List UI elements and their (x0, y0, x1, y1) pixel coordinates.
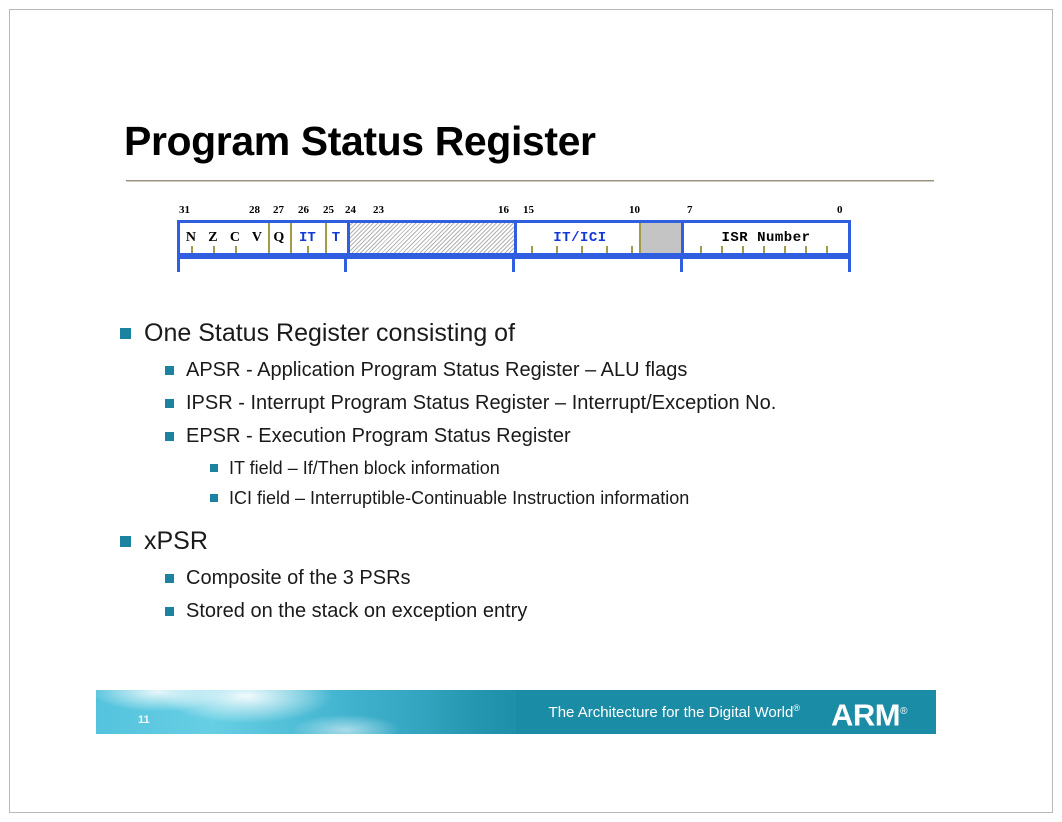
bit-label-v: V (252, 230, 262, 246)
bullet-level2: APSR - Application Program Status Regist… (165, 356, 950, 384)
bit-label-c: C (230, 230, 240, 246)
bit-tick (556, 246, 558, 253)
bit-cell-q: Q (268, 223, 290, 253)
bit-tick (631, 246, 633, 253)
bit-label-it: IT (299, 230, 316, 246)
register-section-isr-number: ISR Number (681, 223, 848, 253)
bit-tick (581, 246, 583, 253)
bullet-text: APSR - Application Program Status Regist… (186, 356, 687, 384)
bit-label-27: 27 (273, 204, 284, 216)
bullet-marker-icon (165, 432, 174, 441)
bracket-drop-23 (344, 256, 347, 272)
bullet-level2: Stored on the stack on exception entry (165, 597, 950, 625)
register-bracket (177, 256, 851, 272)
bullet-marker-icon (165, 366, 174, 375)
register-section-it-ici: IT/ICI (514, 223, 681, 253)
slide-body-content: One Status Register consisting of APSR -… (120, 316, 950, 630)
bit-tick (826, 246, 828, 253)
bit-label-23: 23 (373, 204, 384, 216)
bit-tick (700, 246, 702, 253)
bullet-text: xPSR (144, 524, 208, 558)
bit-tick (213, 246, 215, 253)
spacer (120, 515, 950, 524)
registered-mark: ® (793, 703, 800, 713)
bullet-text: IT field – If/Then block information (229, 455, 500, 481)
bit-label-q: Q (273, 230, 284, 246)
bullet-marker-icon (210, 494, 218, 502)
bullet-marker-icon (165, 399, 174, 408)
register-field-label-isr-number: ISR Number (721, 230, 810, 246)
bullet-level2: IPSR - Interrupt Program Status Register… (165, 389, 950, 417)
bullet-text: IPSR - Interrupt Program Status Register… (186, 389, 776, 417)
page-number: 11 (138, 714, 150, 726)
footer-tagline-text: The Architecture for the Digital World (549, 704, 794, 721)
bit-label-15: 15 (523, 204, 534, 216)
bullet-text: Composite of the 3 PSRs (186, 564, 411, 592)
bit-label-n: N (186, 230, 196, 246)
reserved-gray-block (641, 223, 681, 253)
field-divider (639, 223, 641, 253)
bullet-level1: xPSR (120, 524, 950, 558)
bullet-marker-icon (165, 574, 174, 583)
bit-cell-v: V (246, 223, 268, 253)
bit-label-31: 31 (179, 204, 190, 216)
register-section-flags: N Z C V Q (180, 223, 347, 253)
bit-label-25: 25 (323, 204, 334, 216)
bullet-level3: IT field – If/Then block information (210, 455, 950, 481)
bit-label-z: Z (208, 230, 217, 246)
slide-footer: 11 The Architecture for the Digital Worl… (96, 690, 936, 734)
bit-label-7: 7 (687, 204, 693, 216)
bit-cell-c: C (224, 223, 246, 253)
register-bitfield-bar: N Z C V Q (177, 220, 851, 256)
slide: Program Status Register 31 28 27 26 25 2… (0, 0, 1062, 822)
bracket-drop-15 (512, 256, 515, 272)
psr-register-diagram: 31 28 27 26 25 24 23 16 15 10 7 0 N (177, 204, 851, 274)
bullet-marker-icon (210, 464, 218, 472)
bit-cell-it: IT (290, 223, 325, 253)
register-section-reserved (347, 223, 514, 253)
bit-tick (763, 246, 765, 253)
bit-tick (191, 246, 193, 253)
bracket-drop-7 (680, 256, 683, 272)
registered-mark: ® (900, 706, 907, 717)
bullet-level1: One Status Register consisting of (120, 316, 950, 350)
page-title: Program Status Register (124, 118, 596, 165)
bit-label-10: 10 (629, 204, 640, 216)
bullet-marker-icon (120, 536, 131, 547)
bit-number-labels: 31 28 27 26 25 24 23 16 15 10 7 0 (177, 204, 851, 220)
bit-tick (784, 246, 786, 253)
bullet-marker-icon (165, 607, 174, 616)
arm-logo-text: ARM (831, 697, 900, 732)
bit-label-24: 24 (345, 204, 356, 216)
bit-tick (531, 246, 533, 253)
bit-tick (307, 246, 309, 253)
bit-label-26: 26 (298, 204, 309, 216)
bit-tick (742, 246, 744, 253)
bracket-drop-31 (177, 256, 180, 272)
bit-tick (805, 246, 807, 253)
bullet-text: Stored on the stack on exception entry (186, 597, 527, 625)
bit-label-16: 16 (498, 204, 509, 216)
arm-logo: ARM® (831, 695, 907, 732)
bit-label-28: 28 (249, 204, 260, 216)
bit-cell-t: T (325, 223, 347, 253)
bit-tick (721, 246, 723, 253)
title-divider (126, 180, 934, 182)
footer-tagline: The Architecture for the Digital World® (549, 703, 800, 721)
bullet-level3: ICI field – Interruptible-Continuable In… (210, 485, 950, 511)
bullet-text: One Status Register consisting of (144, 316, 515, 350)
bracket-drop-0 (848, 256, 851, 272)
register-field-label-it-ici: IT/ICI (553, 230, 606, 246)
bit-tick (235, 246, 237, 253)
bullet-text: EPSR - Execution Program Status Register (186, 422, 571, 450)
bullet-level2: Composite of the 3 PSRs (165, 564, 950, 592)
bullet-marker-icon (120, 328, 131, 339)
bit-label-0: 0 (837, 204, 843, 216)
bit-label-t: T (332, 230, 340, 246)
bit-tick (606, 246, 608, 253)
bullet-level2: EPSR - Execution Program Status Register (165, 422, 950, 450)
bit-cell-z: Z (202, 223, 224, 253)
bullet-text: ICI field – Interruptible-Continuable In… (229, 485, 689, 511)
bit-cell-n: N (180, 223, 202, 253)
